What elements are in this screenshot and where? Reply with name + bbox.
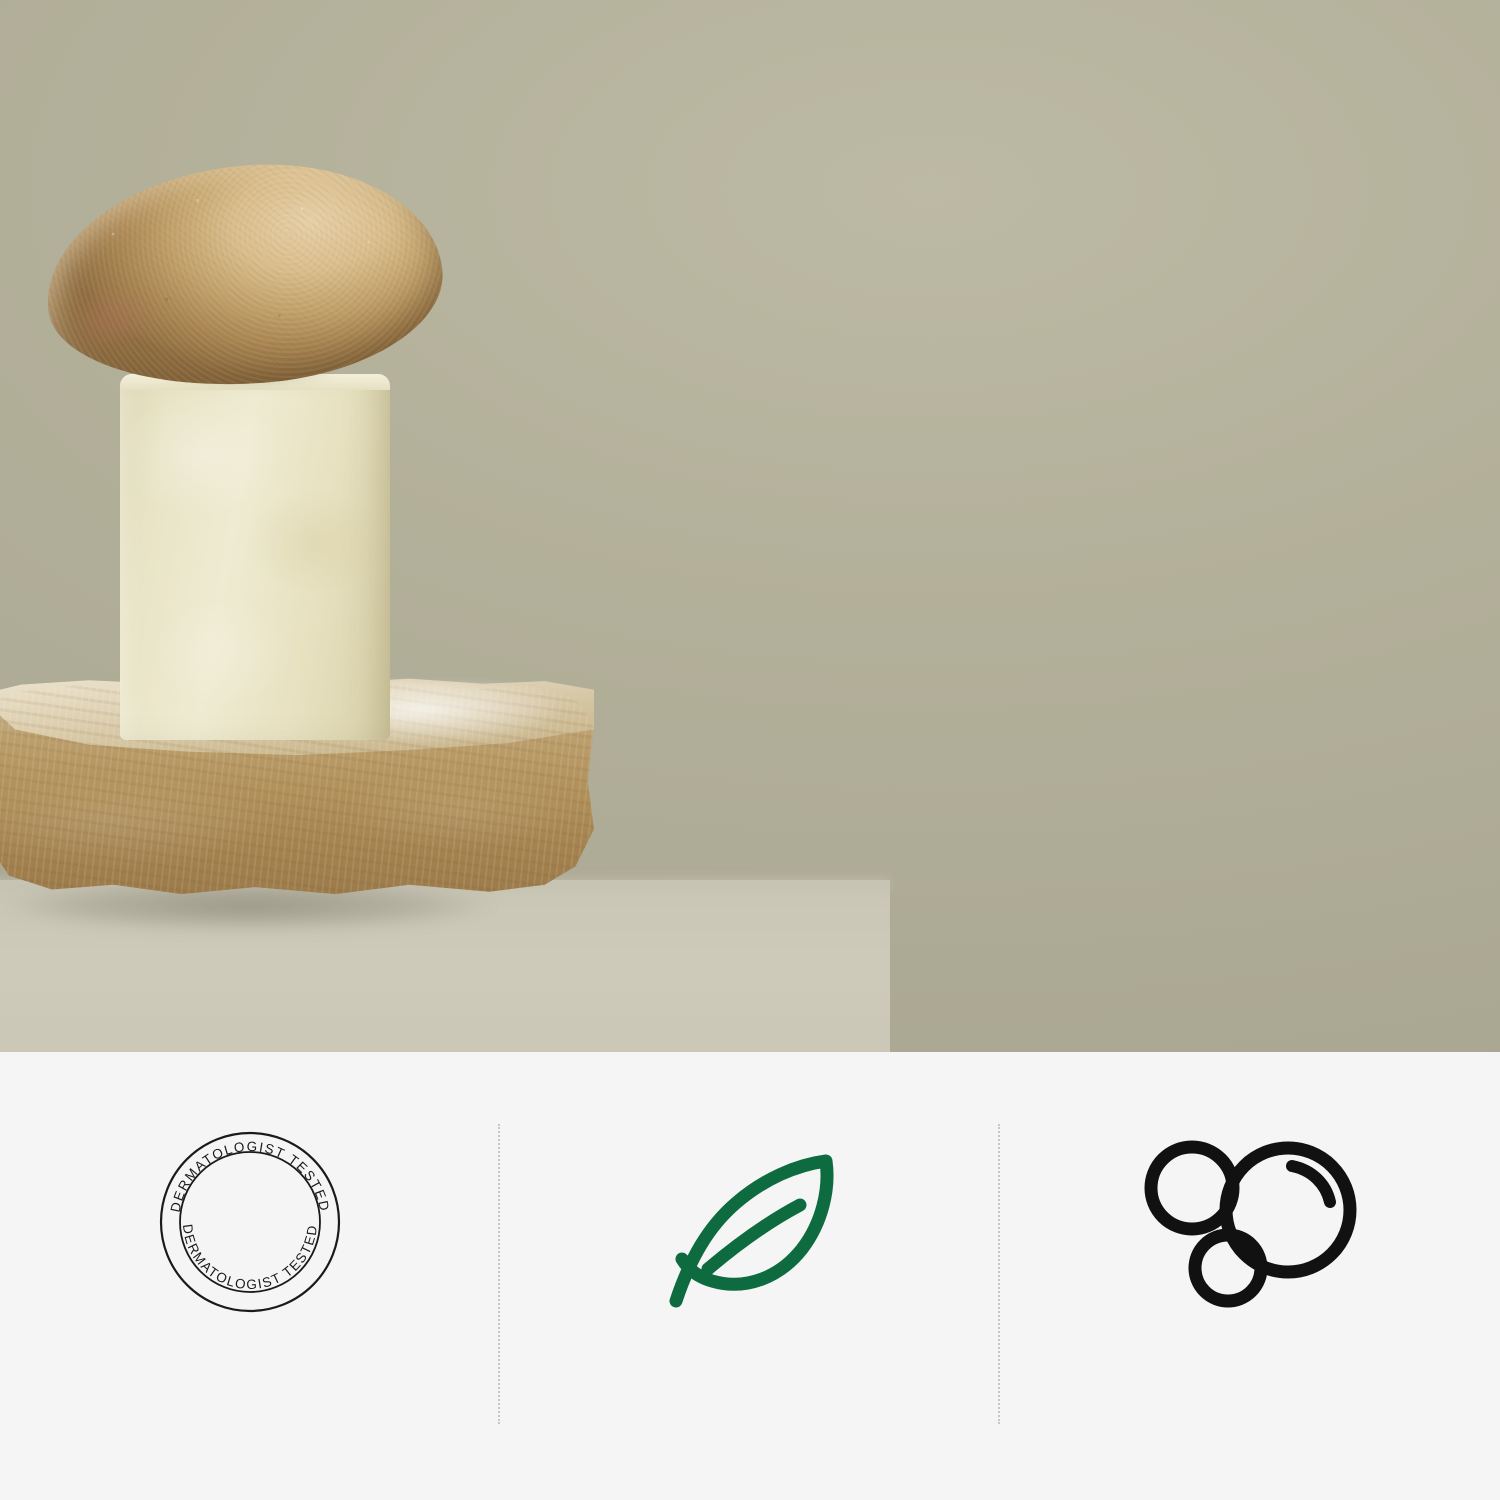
bubbles-icon [1142,1132,1358,1312]
feature-deep-cleansing [1000,1052,1500,1500]
features-section: DERMATOLOGIST TESTED DERMATOLOGIST TESTE… [0,1052,1500,1500]
svg-text:DERMATOLOGIST TESTED: DERMATOLOGIST TESTED [168,1139,333,1214]
soap-bar-texture [120,374,390,740]
feature-skin-irritation: DERMATOLOGIST TESTED DERMATOLOGIST TESTE… [0,1052,500,1500]
seal-ring-text-bottom: DERMATOLOGIST TESTED [180,1223,320,1292]
hero-section [0,0,1500,1052]
svg-text:DERMATOLOGIST TESTED: DERMATOLOGIST TESTED [180,1223,320,1292]
hero-text-block [636,196,1456,208]
feature-plant-derived [500,1052,1000,1500]
dermatologist-tested-seal-icon: DERMATOLOGIST TESTED DERMATOLOGIST TESTE… [157,1129,343,1315]
top-stone-texture [37,149,450,401]
feature-icon-container [1142,1124,1358,1320]
product-photo [0,0,620,1052]
seal-ring-text-top: DERMATOLOGIST TESTED [168,1139,333,1214]
feature-icon-container: DERMATOLOGIST TESTED DERMATOLOGIST TESTE… [157,1124,343,1320]
feature-icon-container [650,1124,850,1320]
soap-brand-emboss [283,375,309,575]
product-detail-page: DERMATOLOGIST TESTED DERMATOLOGIST TESTE… [0,0,1500,1500]
leaf-icon [650,1131,850,1313]
